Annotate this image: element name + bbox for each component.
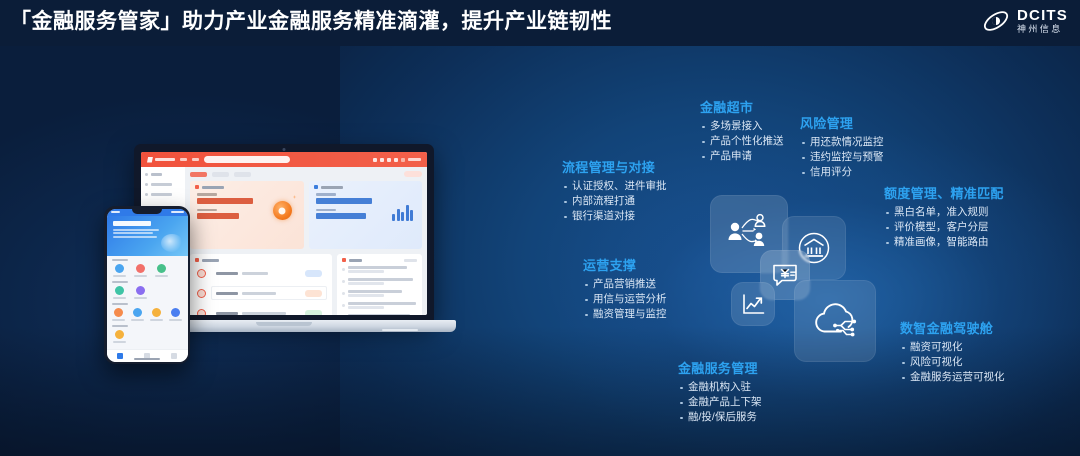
- phone-screen: [107, 209, 188, 362]
- stat-card-financing: [190, 181, 304, 249]
- feature-item: 金融机构入驻: [678, 380, 762, 395]
- device-mockups: [104, 142, 470, 364]
- feature-title: 金融超市: [700, 97, 784, 116]
- help-icon[interactable]: [387, 158, 391, 162]
- news-item[interactable]: [342, 302, 417, 310]
- brand-name: DCITS: [1017, 8, 1068, 23]
- grid-item[interactable]: [112, 308, 126, 321]
- feature-item: 产品个性化推送: [700, 134, 784, 149]
- tab-third[interactable]: [234, 172, 251, 177]
- grid-item[interactable]: [131, 308, 145, 321]
- feature-title: 运营支撑: [583, 255, 667, 274]
- status-badge: [305, 270, 322, 277]
- feature-block-quota: 额度管理、精准匹配 黑白名单，准入规则 评价模型，客户分层 精准画像，智能路由: [884, 183, 1004, 250]
- bell-icon[interactable]: [380, 158, 384, 162]
- phone-home-indicator: [134, 358, 160, 360]
- feature-item: 风险可视化: [900, 355, 1005, 370]
- message-icon[interactable]: [394, 158, 398, 162]
- grid-item[interactable]: [112, 286, 128, 299]
- feature-item: 认证授权、进件审批: [562, 179, 667, 194]
- news-item[interactable]: [342, 266, 417, 274]
- app-search-input[interactable]: [204, 156, 290, 163]
- icon-grid[interactable]: [112, 286, 183, 299]
- feature-list: 黑白名单，准入规则 评价模型，客户分层 精准画像，智能路由: [884, 205, 1004, 250]
- sidebar-item[interactable]: [145, 193, 181, 196]
- feature-list: 融资可视化 风险可视化 金融服务运营可视化: [900, 340, 1005, 385]
- timeline-row[interactable]: [197, 286, 327, 300]
- app-topbar: [141, 152, 427, 167]
- laptop-camera-icon: [283, 148, 286, 151]
- tab-second[interactable]: [212, 172, 229, 177]
- timeline-row[interactable]: [197, 266, 327, 280]
- step-icon: [197, 309, 206, 316]
- grid-item[interactable]: [150, 308, 164, 321]
- feature-item: 违约监控与预警: [800, 150, 884, 165]
- feature-title: 额度管理、精准匹配: [884, 183, 1004, 202]
- banner-graphic-icon: [161, 234, 183, 252]
- app-lower-panels: [190, 254, 422, 315]
- coin-icon: [273, 201, 292, 220]
- step-icon: [197, 289, 206, 298]
- avatar[interactable]: [401, 158, 405, 162]
- news-item[interactable]: [342, 314, 417, 315]
- brand-subname: 神州信息: [1017, 25, 1068, 34]
- feature-item: 信用评分: [800, 165, 884, 180]
- feature-item: 融资可视化: [900, 340, 1005, 355]
- status-badge: [305, 290, 322, 297]
- feature-item: 内部流程打通: [562, 194, 667, 209]
- feature-item: 评价模型，客户分层: [884, 220, 1004, 235]
- brand-logo: DCITS 神州信息: [981, 6, 1068, 36]
- grid-item[interactable]: [133, 286, 149, 299]
- grid-item[interactable]: [154, 264, 170, 277]
- cloud-tech-icon: [811, 300, 859, 342]
- sidebar-item[interactable]: [145, 183, 181, 186]
- tile-chart-trend: [731, 282, 775, 326]
- app-logo-icon: [147, 157, 175, 163]
- feature-block-market: 金融超市 多场景接入 产品个性化推送 产品申请: [700, 97, 784, 164]
- bar-chart-icon: [392, 203, 413, 221]
- feature-title: 流程管理与对接: [562, 157, 667, 176]
- tab-overview[interactable]: [190, 172, 207, 177]
- phone-section-services: [107, 256, 188, 343]
- app-topbar-actions[interactable]: [373, 158, 421, 162]
- feature-block-operations: 运营支撑 产品营销推送 用信与运营分析 融资管理与监控: [583, 255, 667, 322]
- stat-cards: [190, 181, 422, 249]
- feature-item: 金融产品上下架: [678, 395, 762, 410]
- feature-list: 多场景接入 产品个性化推送 产品申请: [700, 119, 784, 164]
- action-button[interactable]: [404, 171, 422, 177]
- chat-money-icon: [771, 262, 799, 288]
- grid-item[interactable]: [133, 264, 149, 277]
- laptop-foot: [382, 329, 418, 331]
- news-item[interactable]: [342, 278, 417, 286]
- more-link[interactable]: [404, 259, 417, 262]
- page-title: 「金融服务管家」助力产业金融服务精准滴灌，提升产业链韧性: [10, 6, 612, 38]
- grid-icon[interactable]: [373, 158, 377, 162]
- phone-hero-banner: [107, 216, 188, 256]
- feature-title: 数智金融驾驶舱: [900, 318, 1005, 337]
- feature-item: 融/投/保后服务: [678, 410, 762, 425]
- slide-canvas: 「金融服务管家」助力产业金融服务精准滴灌，提升产业链韧性 DCITS 神州信息: [0, 0, 1080, 456]
- chart-trend-up-icon: [741, 292, 766, 317]
- icon-grid[interactable]: [112, 264, 183, 277]
- header-bar: 「金融服务管家」助力产业金融服务精准滴灌，提升产业链韧性 DCITS 神州信息: [0, 0, 1080, 46]
- laptop-trackpad-notch: [256, 322, 312, 326]
- icon-grid[interactable]: [112, 308, 183, 321]
- status-badge: [305, 310, 322, 316]
- feature-item: 融资管理与监控: [583, 307, 667, 322]
- feature-item: 多场景接入: [700, 119, 784, 134]
- phone-notch: [132, 209, 162, 214]
- feature-block-process: 流程管理与对接 认证授权、进件审批 内部流程打通 银行渠道对接: [562, 157, 667, 224]
- tab-home-icon[interactable]: [117, 353, 123, 359]
- feature-list: 金融机构入驻 金融产品上下架 融/投/保后服务: [678, 380, 762, 425]
- feature-item: 用还款情况监控: [800, 135, 884, 150]
- sidebar-item[interactable]: [145, 173, 181, 176]
- step-icon: [197, 269, 206, 278]
- grid-item[interactable]: [169, 308, 183, 321]
- feature-list: 认证授权、进件审批 内部流程打通 银行渠道对接: [562, 179, 667, 224]
- tile-cloud-tech: [794, 280, 876, 362]
- username-label: [408, 158, 421, 161]
- feature-list: 用还款情况监控 违约监控与预警 信用评分: [800, 135, 884, 180]
- feature-item: 黑白名单，准入规则: [884, 205, 1004, 220]
- feature-item: 银行渠道对接: [562, 209, 667, 224]
- feature-item: 产品申请: [700, 149, 784, 164]
- news-panel: [337, 254, 422, 315]
- feature-item: 精准画像，智能路由: [884, 235, 1004, 250]
- brand-text: DCITS 神州信息: [1017, 8, 1068, 34]
- timeline-row[interactable]: [197, 306, 327, 315]
- feature-title: 金融服务管理: [678, 358, 762, 377]
- people-network-icon: [726, 213, 772, 255]
- feature-block-cockpit: 数智金融驾驶舱 融资可视化 风险可视化 金融服务运营可视化: [900, 318, 1005, 385]
- tab-profile-icon[interactable]: [171, 353, 177, 359]
- feature-block-financial-service: 金融服务管理 金融机构入驻 金融产品上下架 融/投/保后服务: [678, 358, 762, 425]
- swirl-logo-icon: [981, 6, 1011, 36]
- news-item[interactable]: [342, 290, 417, 298]
- icon-cluster: [700, 190, 880, 360]
- feature-block-risk: 风险管理 用还款情况监控 违约监控与预警 信用评分: [800, 113, 884, 180]
- stat-card-amount: [309, 181, 423, 249]
- feature-item: 产品营销推送: [583, 277, 667, 292]
- app-tabs[interactable]: [190, 171, 422, 177]
- process-timeline-panel: [190, 254, 332, 315]
- feature-title: 风险管理: [800, 113, 884, 132]
- grid-item[interactable]: [112, 330, 128, 343]
- grid-item[interactable]: [112, 264, 128, 277]
- icon-grid[interactable]: [112, 330, 183, 343]
- feature-list: 产品营销推送 用信与运营分析 融资管理与监控: [583, 277, 667, 322]
- feature-item: 用信与运营分析: [583, 292, 667, 307]
- app-main-content: [185, 167, 427, 315]
- feature-item: 金融服务运营可视化: [900, 370, 1005, 385]
- phone-mockup: [104, 206, 190, 364]
